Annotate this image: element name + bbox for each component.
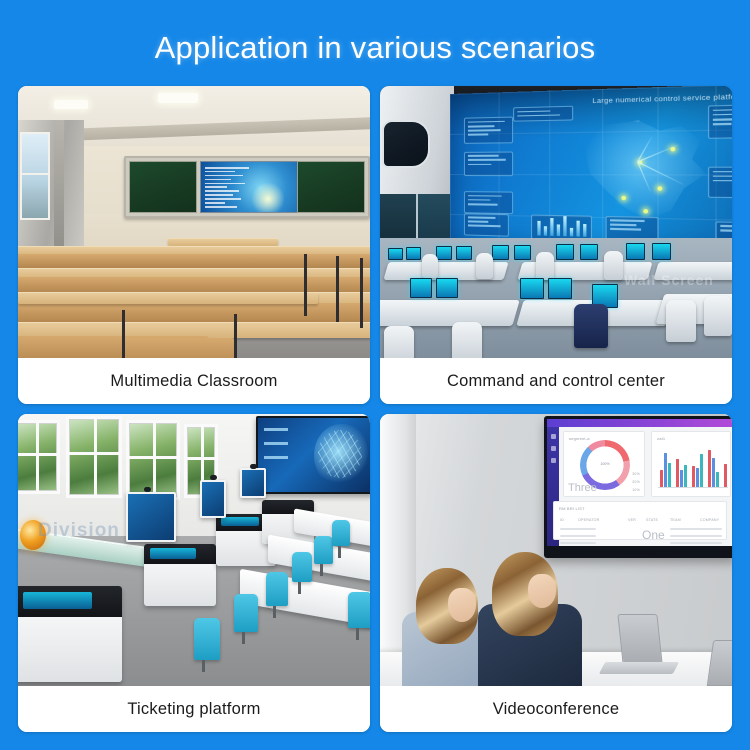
ceiling-light-1 — [54, 100, 88, 109]
table-col-3: VER — [628, 518, 636, 522]
wall-panel-left-2 — [464, 151, 513, 176]
console-monitor-b4 — [456, 246, 472, 260]
console-desk-front-1 — [380, 300, 520, 326]
bar-c5-red — [724, 464, 727, 488]
console-monitor-b9 — [626, 243, 645, 260]
classroom-display-screen — [200, 161, 298, 213]
ceiling-light-2 — [158, 93, 198, 103]
bar-c2-red — [676, 459, 679, 488]
dashboard-header-bar — [547, 419, 732, 427]
wall-panel-dark — [382, 120, 430, 168]
kiosk-camera-3 — [250, 464, 257, 469]
wall-display-ai — [256, 416, 370, 494]
chalkboard-left — [129, 161, 197, 213]
table-row — [670, 528, 722, 530]
table-title: RM BRI LIST — [559, 506, 585, 511]
console-monitor-f2 — [436, 278, 458, 298]
console-monitor-b3 — [436, 246, 452, 260]
table-col-4: STATE — [646, 518, 658, 522]
scenario-grid: Multimedia Classroom Large numerical con… — [18, 86, 732, 734]
kiosk-camera-1 — [144, 487, 151, 492]
bar-c1-teal — [668, 463, 671, 488]
classroom-window — [20, 132, 50, 220]
kiosk-1-touchpad[interactable] — [23, 592, 92, 609]
table-col-6: COMPANY — [700, 518, 719, 522]
chair-1 — [194, 618, 220, 660]
attendee-2 — [478, 552, 582, 686]
chair-2 — [234, 594, 258, 632]
operator-chair-b2 — [476, 253, 493, 279]
window-3 — [126, 420, 180, 500]
table-col-2: OPERATOR — [578, 518, 599, 522]
donut-legend-1: 30% — [632, 472, 640, 476]
wall-panel-left-1 — [464, 117, 513, 144]
bench-row-1b — [124, 338, 234, 358]
scenario-card-ticketing-platform[interactable]: Division Ticketing platform — [18, 414, 370, 732]
laptop-base — [599, 662, 679, 674]
console-monitor-f4 — [548, 278, 572, 299]
interactive-flat-panel[interactable]: segment-a 100% Three 30% 20% 10% cat1 — [544, 416, 732, 558]
card-caption-command-and-control-center: Command and control center — [380, 358, 732, 404]
chair-5 — [314, 536, 333, 564]
map-node-2 — [657, 187, 662, 191]
console-monitor-f3 — [520, 278, 544, 299]
bench-row-2 — [18, 303, 370, 323]
videoconference-photo: segment-a 100% Three 30% 20% 10% cat1 — [380, 414, 732, 686]
operator-chair-f4 — [666, 300, 696, 342]
desk-row-5 — [168, 238, 278, 246]
command-center-photo: Large numerical control service platform — [380, 86, 732, 358]
wall-display-text — [264, 428, 288, 470]
table-row — [560, 528, 596, 530]
video-wall: Large numerical control service platform — [450, 86, 732, 257]
card-caption-multimedia-classroom: Multimedia Classroom — [18, 358, 370, 404]
wall-panel-left-3 — [464, 191, 513, 214]
console-monitor-f1 — [410, 278, 432, 298]
operator-chair-f1 — [384, 326, 414, 358]
screen-glow — [251, 182, 285, 213]
table-row — [560, 542, 596, 544]
console-monitor-b8 — [580, 244, 598, 260]
dashboard-watermark-one: One — [642, 528, 665, 542]
wall-chart-bars — [531, 214, 592, 241]
operator-chair-b1 — [422, 254, 438, 278]
operator-chair-f3 — [574, 304, 608, 348]
operator-chair-f2 — [452, 322, 482, 358]
chair-7 — [348, 592, 370, 628]
desk-leg-3 — [360, 258, 363, 328]
bar-chart — [658, 448, 728, 488]
table-row — [560, 535, 596, 537]
data-table-tile: RM BRI LIST ID OPERATOR VER STATE TEAM C… — [553, 501, 727, 540]
bar-c4-red — [708, 450, 711, 488]
bar-c3-teal — [700, 454, 703, 488]
kiosk-monitor-1 — [126, 492, 176, 542]
bench-row-4 — [18, 254, 370, 268]
bar-c3-blue — [696, 468, 699, 488]
bar-c3-red — [692, 466, 695, 488]
console-monitor-b10 — [652, 243, 671, 260]
chair-6 — [332, 520, 350, 546]
operator-chair-b4 — [604, 251, 623, 280]
donut-legend-2: 20% — [632, 480, 640, 484]
wall-panel-right-1 — [707, 104, 732, 139]
bar-chart-tile: cat1 — [651, 431, 731, 497]
window-2 — [66, 416, 122, 498]
table-col-1: ID — [560, 518, 564, 522]
operator-chair-b3 — [536, 252, 554, 280]
window-1 — [18, 420, 60, 494]
ticket-kiosk-1[interactable] — [18, 586, 122, 682]
scenario-card-command-and-control-center[interactable]: Large numerical control service platform — [380, 86, 732, 404]
console-monitor-b6 — [514, 245, 531, 260]
kiosk-monitor-3 — [240, 468, 266, 498]
table-row — [670, 542, 722, 544]
bar-c4-blue — [712, 458, 715, 488]
card-caption-videoconference: Videoconference — [380, 686, 732, 732]
chair-4 — [292, 552, 312, 582]
donut-chart-tile: segment-a 100% Three 30% 20% 10% — [563, 431, 645, 497]
kiosk-3-touchpad[interactable] — [221, 517, 259, 526]
card-caption-ticketing-platform: Ticketing platform — [18, 686, 370, 732]
screen-text-lines — [205, 167, 251, 208]
bar-c2-blue — [680, 470, 683, 488]
desk-leg-5 — [234, 314, 237, 358]
bar-chart-axis — [658, 487, 728, 488]
attendee-1-face — [448, 588, 476, 622]
console-desk-back-3 — [653, 262, 732, 280]
ticket-kiosk-2[interactable] — [144, 544, 216, 606]
page-title: Application in various scenarios — [0, 30, 750, 66]
wall-column — [54, 120, 64, 260]
attendee-2-face — [528, 574, 556, 608]
bar-c4-teal — [716, 472, 719, 488]
orange-globe-display — [20, 520, 46, 550]
scenario-card-videoconference[interactable]: segment-a 100% Three 30% 20% 10% cat1 — [380, 414, 732, 732]
chalkboard-assembly — [124, 156, 370, 218]
kiosk-monitor-2 — [200, 480, 226, 518]
bar-c1-red — [660, 470, 663, 488]
table-col-5: TEAM — [670, 518, 681, 522]
bar-tile-label: cat1 — [657, 436, 665, 441]
console-monitor-b7 — [556, 244, 574, 260]
wall-panel-right-2 — [707, 167, 732, 199]
console-monitor-b5 — [492, 245, 509, 260]
console-monitor-b2 — [406, 247, 421, 260]
wall-panel-mid-top — [513, 106, 573, 122]
wall-panel-bottom-left — [464, 213, 509, 236]
bar-c1-blue — [664, 453, 667, 488]
desk-leg-1 — [304, 254, 307, 316]
desk-leg-4 — [122, 310, 125, 358]
operator-chair-f5 — [704, 296, 732, 336]
ticketing-platform-photo: Division — [18, 414, 370, 686]
bar-c2-teal — [684, 465, 687, 488]
table-row — [670, 535, 722, 537]
classroom-photo — [18, 86, 370, 358]
desk-row-front — [18, 292, 318, 304]
donut-legend-3: 10% — [632, 488, 640, 492]
console-monitor-b1 — [388, 248, 403, 260]
chalkboard-right — [297, 161, 365, 213]
laptop-lid — [617, 614, 662, 664]
chair-3 — [266, 572, 288, 606]
desk-leg-2 — [336, 256, 339, 322]
bench-row-3 — [18, 277, 370, 293]
brain-network-lines — [318, 430, 362, 478]
dashboard-watermark-three: Three — [568, 482, 597, 494]
kiosk-camera-2 — [210, 475, 217, 480]
scenario-card-multimedia-classroom[interactable]: Multimedia Classroom — [18, 86, 370, 404]
dashboard-screen: segment-a 100% Three 30% 20% 10% cat1 — [547, 419, 732, 546]
kiosk-2-touchpad[interactable] — [150, 548, 196, 559]
